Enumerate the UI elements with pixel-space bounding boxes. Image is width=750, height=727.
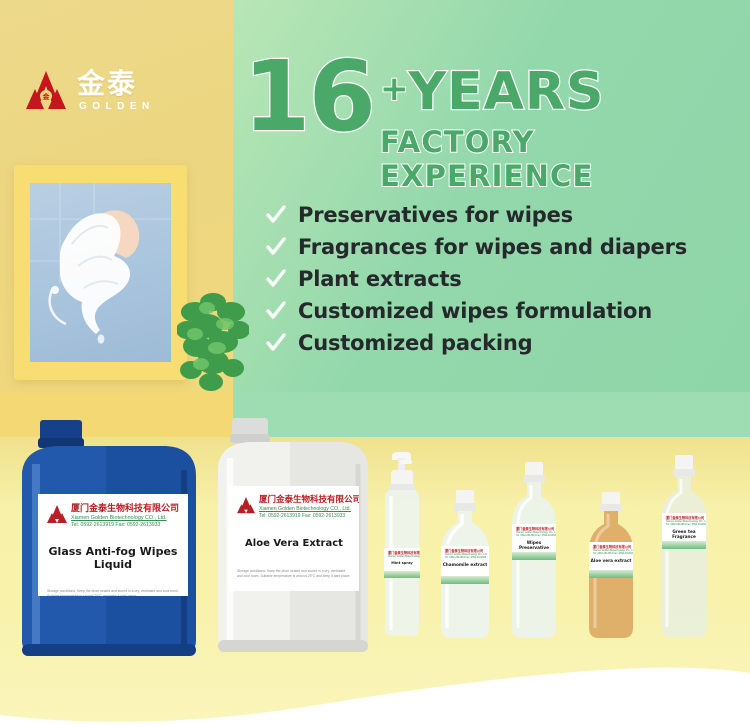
check-icon: [266, 237, 286, 257]
list-item-label: Customized packing: [298, 331, 532, 355]
product-label: 厦门金泰生物科技有限公司 Xiamen Golden Biotechnology…: [512, 524, 556, 560]
list-item-label: Customized wipes formulation: [298, 299, 652, 323]
logo-chinese-name: 金泰: [77, 70, 155, 98]
label-contact: Tel: 0592-2613919 Fax: 0592-2613933: [593, 552, 633, 555]
logo-english-name: GOLDEN: [77, 102, 155, 112]
check-icon: [266, 269, 286, 289]
label-stripe: [441, 576, 489, 584]
list-item: Preservatives for wipes: [266, 203, 716, 227]
list-item-label: Preservatives for wipes: [298, 203, 573, 227]
product-label: 厦门金泰生物科技有限公司 Xiamen Golden Biotechnology…: [38, 494, 188, 596]
product-name: Aloe Vera Extract: [245, 538, 343, 549]
product-label: 厦门金泰生物科技有限公司 Xiamen Golden Biotechnology…: [441, 546, 489, 584]
label-stripe: [512, 552, 556, 560]
feature-list: Preservatives for wipes Fragrances for w…: [266, 203, 716, 363]
label-contact: Tel: 0592-2613919 Fax: 0592-2613933: [445, 556, 487, 559]
bottom-wave-decoration: [0, 607, 750, 727]
plant-decoration-icon: [177, 286, 249, 392]
product-label: 厦门金泰生物科技有限公司 Xiamen Golden Biotechnology…: [384, 548, 420, 578]
hand-holding-wet-wipe-photo: [30, 183, 171, 362]
label-stripe: [384, 571, 420, 578]
label-header: 厦门金泰生物科技有限公司 Xiamen Golden Biotechnology…: [47, 501, 179, 528]
product-label: 厦门金泰生物科技有限公司 Xiamen Golden Biotechnology…: [662, 513, 706, 549]
label-stripe: [589, 570, 633, 578]
wet-wipe-illustration-icon: [42, 194, 160, 344]
photo-frame: [14, 165, 187, 380]
list-item: Customized wipes formulation: [266, 299, 716, 323]
label-storage-note: Storage conditions: Keep the drum sealed…: [237, 569, 351, 579]
product-label: 厦门金泰生物科技有限公司 Xiamen Golden Biotechnology…: [229, 486, 359, 591]
label-contact: Tel: 0592-2613919 Fax: 0592-2613933: [71, 522, 179, 528]
red-triangle-mountain-logo-icon: 金: [24, 69, 68, 113]
product-name: Chamomile extract: [441, 562, 489, 567]
red-triangle-mountain-logo-icon: [47, 505, 67, 525]
product-label: 厦门金泰生物科技有限公司 Xiamen Golden Biotechnology…: [589, 542, 633, 578]
svg-text:金: 金: [42, 92, 51, 101]
label-company-cn: 厦门金泰生物科技有限公司: [71, 501, 179, 514]
product-name: Green tea Fragrance: [662, 529, 706, 539]
plus-sign: +: [380, 72, 409, 106]
product-name: Wipes Preservative: [512, 540, 556, 550]
years-number: 16: [243, 54, 374, 139]
promo-banner: 金 金泰 GOLDEN: [0, 0, 750, 727]
label-storage-note: Storage conditions: Keep the drum sealed…: [47, 589, 179, 596]
check-icon: [266, 333, 286, 353]
product-name: Aloe vera extract: [589, 558, 633, 563]
label-company-en: Xiamen Golden Biotechnology CO., Ltd.: [71, 515, 179, 521]
list-item: Customized packing: [266, 331, 716, 355]
list-item: Plant extracts: [266, 267, 716, 291]
list-item: Fragrances for wipes and diapers: [266, 235, 716, 259]
years-word: YEARS: [409, 66, 605, 118]
check-icon: [266, 205, 286, 225]
headline-block: 16 + YEARS FACTORY EXPERIENCE: [243, 54, 743, 193]
list-item-label: Fragrances for wipes and diapers: [298, 235, 687, 259]
label-company-en: Xiamen Golden Biotechnology CO., Ltd.: [388, 555, 420, 558]
label-company-en: Xiamen Golden Biotechnology CO., Ltd.: [259, 506, 359, 512]
headline-subtitle: FACTORY EXPERIENCE: [380, 125, 743, 193]
company-logo: 金 金泰 GOLDEN: [24, 69, 155, 113]
label-header: 厦门金泰生物科技有限公司 Xiamen Golden Biotechnology…: [237, 493, 351, 519]
label-stripe: [662, 541, 706, 549]
product-name: Mint spray: [384, 561, 420, 565]
check-icon: [266, 301, 286, 321]
red-triangle-mountain-logo-icon: [237, 497, 255, 515]
product-name: Glass Anti-fog Wipes Liquid: [47, 545, 179, 571]
list-item-label: Plant extracts: [298, 267, 462, 291]
label-contact: Tel: 0592-2613919 Fax: 0592-2613933: [259, 513, 359, 519]
label-contact: Tel: 0592-2613919 Fax: 0592-2613933: [666, 523, 706, 526]
label-company-cn: 厦门金泰生物科技有限公司: [259, 493, 359, 505]
label-contact: Tel: 0592-2613919 Fax: 0592-2613933: [516, 534, 556, 537]
logo-text: 金泰 GOLDEN: [77, 70, 155, 112]
